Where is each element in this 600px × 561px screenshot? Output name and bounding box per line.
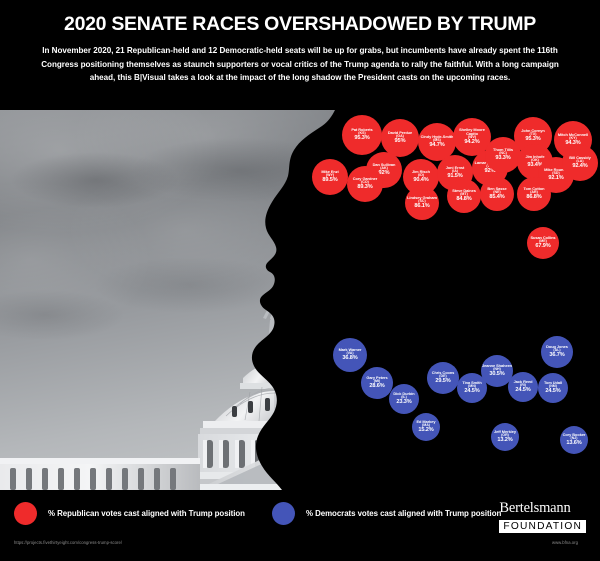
bubble-value: 36.8% [342,356,357,362]
bubble-value: 36.7% [549,353,564,359]
bubble-value: 90.4% [413,178,428,184]
bubble-value: 95.3% [354,136,369,142]
brand-subname: FOUNDATION [499,520,586,533]
bubble-value: 86.8% [526,195,541,201]
bubble-susan-collins[interactable]: Susan Collins(ME)67.9% [527,227,559,259]
page-subtitle: In November 2020, 21 Republican-held and… [22,44,578,83]
page-title: 2020 SENATE RACES OVERSHADOWED BY TRUMP [22,14,578,35]
bubble-value: 94.7% [429,143,444,149]
source-url[interactable]: https://projects.fivethirtyeight.com/con… [14,540,122,545]
bubble-value: 92.1% [548,176,563,182]
brand-name: Bertelsmann [499,501,586,516]
bubble-cory-gardner[interactable]: Cory Gardner(CO)89.3% [347,166,383,202]
bubble-value: 24.5% [464,389,479,395]
bubble-value: 89.3% [357,185,372,191]
footer: % Republican votes cast aligned with Tru… [0,490,600,561]
bubble-value: 85.4% [489,195,504,201]
bubble-value: 30.5% [489,372,504,378]
bubble-value: 92.4% [572,164,587,170]
legend-dot-democrat-icon [272,502,295,525]
bubble-gary-peters[interactable]: Gary Peters(MI)28.6% [361,367,393,399]
bubble-cory-booker[interactable]: Cory Booker(NJ)13.6% [560,426,588,454]
bubble-ed-markey[interactable]: Ed Markey(MA)15.2% [412,413,440,441]
bubble-value: 13.2% [497,438,512,444]
bubble-ben-sasse[interactable]: Ben Sasse(NE)85.4% [480,177,514,211]
bubble-value: 95% [395,139,406,145]
legend-republican-label: % Republican votes cast aligned with Tru… [48,509,245,518]
bubble-value: 86.1% [414,204,429,210]
legend-republican: % Republican votes cast aligned with Tru… [14,502,245,525]
bubble-value: 84.8% [456,197,471,203]
bubble-jeff-merkley[interactable]: Jeff Merkley(OR)13.2% [491,423,519,451]
site-url[interactable]: www.bfna.org [552,540,578,545]
bubble-bill-cassidy[interactable]: Bill Cassidy(LA)92.4% [562,145,598,181]
bubble-tom-cotton[interactable]: Tom Cotton(AR)86.8% [517,177,551,211]
bubble-chris-coons[interactable]: Chris Coons(DE)29.5% [427,362,459,394]
bubble-value: 15.2% [418,428,433,434]
bubble-value: 13.6% [566,441,581,447]
header: 2020 SENATE RACES OVERSHADOWED BY TRUMP … [0,0,600,110]
bubble-value: 24.5% [515,388,530,394]
bubble-value: 29.5% [435,379,450,385]
bubble-jack-reed[interactable]: Jack Reed(RI)24.5% [508,372,538,402]
bubble-value: 28.6% [369,384,384,390]
bubble-doug-jones[interactable]: Doug Jones(AL)36.7% [541,336,573,368]
infographic-page: 2020 SENATE RACES OVERSHADOWED BY TRUMP … [0,0,600,561]
bubble-steve-daines[interactable]: Steve Daines(MT)84.8% [447,179,481,213]
bubble-lindsey-graham[interactable]: Lindsey Graham(SC)86.1% [405,186,439,220]
bubble-value: 93.3% [495,156,510,162]
bubble-value: 89.5% [322,178,337,184]
bubble-value: 67.9% [535,244,550,250]
bubble-thom-tillis[interactable]: Thom Tillis(NC)93.3% [485,137,521,173]
legend-democrat: % Democrats votes cast aligned with Trum… [272,502,501,525]
bubble-value: 24.5% [545,389,560,395]
bertelsmann-foundation-logo: Bertelsmann FOUNDATION [499,501,586,534]
legend-dot-republican-icon [14,502,37,525]
artwork-panel: Pat Roberts(KS)95.3%David Perdue(GA)95%C… [0,110,600,490]
bubble-tom-udall[interactable]: Tom Udall(NM)24.5% [538,373,568,403]
legend-democrat-label: % Democrats votes cast aligned with Trum… [306,509,501,518]
bubble-value: 94.2% [464,140,479,146]
bubble-mark-warner[interactable]: Mark Warner(VA)36.8% [333,338,367,372]
bubble-mike-enzi[interactable]: Mike Enzi(WY)89.5% [312,159,348,195]
bubble-pat-roberts[interactable]: Pat Roberts(KS)95.3% [342,115,382,155]
bubble-tina-smith[interactable]: Tina Smith(MN)24.5% [457,373,487,403]
bubble-value: 95.3% [525,137,540,143]
bubble-dick-durbin[interactable]: Dick Durbin(IL)23.3% [389,384,419,414]
bubble-value: 23.3% [396,400,411,406]
